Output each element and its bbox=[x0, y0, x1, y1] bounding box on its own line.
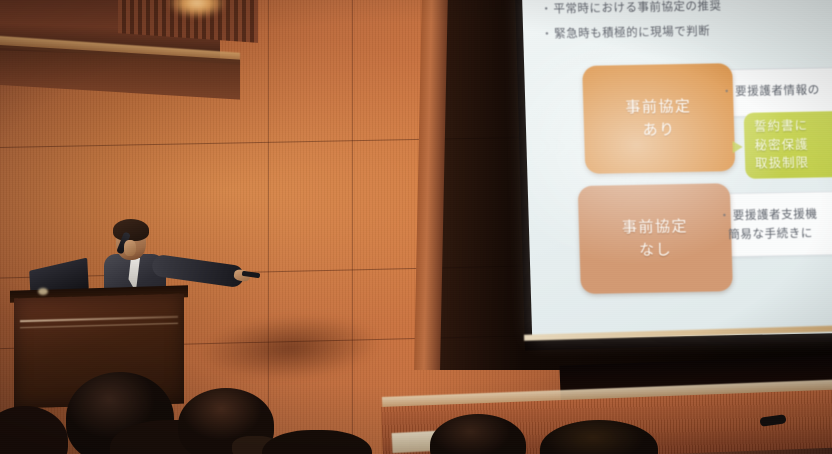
slide-note-2-line-1: 要援護者支援機 bbox=[718, 205, 817, 225]
projection-screen: 平常時における事前協定の推奨 緊急時も積極的に現場で判断 事前協定 あり 事前協… bbox=[522, 0, 832, 339]
slide-box-agreement-no: 事前協定 なし bbox=[578, 183, 733, 294]
slide-note-2-line-2: 簡易な手続きに bbox=[719, 225, 813, 245]
slide-callout-box: 誓約書に 秘密保護 取扱制限 bbox=[744, 110, 832, 179]
callout-line-2: 秘密保護 bbox=[754, 135, 809, 155]
lecture-hall-photo: 平常時における事前協定の推奨 緊急時も積極的に現場で判断 事前協定 あり 事前協… bbox=[0, 0, 832, 454]
ceiling-light-glow bbox=[168, 0, 226, 18]
callout-line-1: 誓約書に bbox=[754, 117, 809, 137]
slide-bullet-1: 平常時における事前協定の推奨 bbox=[540, 0, 832, 17]
slide-box-value: なし bbox=[639, 238, 673, 262]
slide-box-title: 事前協定 bbox=[622, 215, 689, 240]
callout-arrow-icon bbox=[732, 141, 742, 153]
slide-box-agreement-yes: 事前協定 あり bbox=[582, 63, 735, 174]
slide-note-1: 要援護者情報の bbox=[721, 81, 820, 101]
speaker-mic-hand bbox=[124, 240, 136, 256]
podium-light-glow bbox=[38, 288, 48, 295]
callout-line-3: 取扱制限 bbox=[755, 154, 810, 174]
speaker-hair bbox=[113, 219, 149, 241]
wall-seam-vertical bbox=[352, 0, 353, 454]
slide-box-title: 事前協定 bbox=[625, 95, 692, 120]
slide-bullet-2: 緊急時も積極的に現場で判断 bbox=[541, 20, 832, 42]
presentation-slide: 平常時における事前協定の推奨 緊急時も積極的に現場で判断 事前協定 あり 事前協… bbox=[522, 0, 832, 339]
wall-seam-vertical bbox=[268, 0, 269, 454]
slide-box-value: あり bbox=[642, 118, 676, 142]
